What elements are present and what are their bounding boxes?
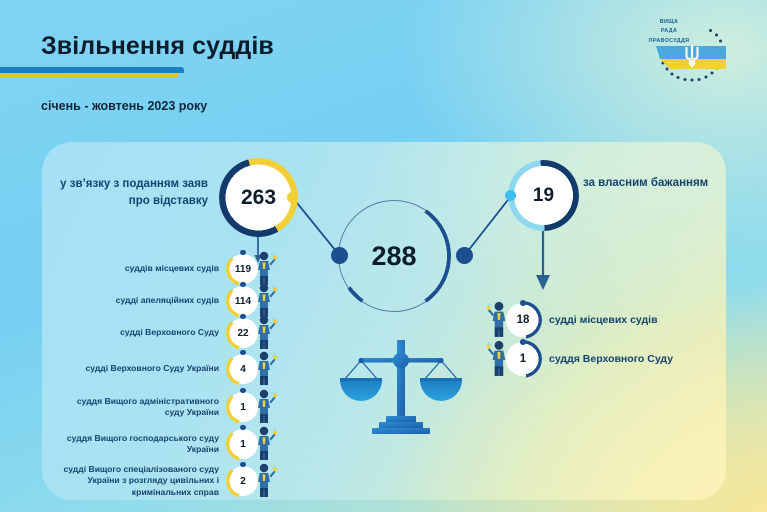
bubble-top-dot	[240, 462, 245, 467]
bubble-top-dot	[520, 339, 526, 345]
row-count-bubble: 1	[228, 429, 258, 459]
connector-dot-19	[505, 190, 516, 201]
row-count: 1	[240, 402, 246, 413]
list-item: судді Верховного Суду 22	[60, 314, 277, 352]
label-own-wish: за власним бажанням	[583, 175, 723, 192]
bubble-top-dot	[240, 314, 245, 319]
row-label: суддя Верховного Суду	[540, 353, 673, 365]
node-19-value: 19	[533, 185, 554, 207]
row-label: суддя Вищого господарського суду України	[60, 433, 228, 455]
row-count: 18	[517, 314, 530, 326]
row-label: судді Верховного Суду	[60, 327, 228, 338]
row-count: 119	[235, 264, 251, 275]
label-resignation: у зв’язку з поданням заяв про відставку	[60, 176, 208, 209]
row-count-bubble: 2	[228, 466, 258, 496]
row-count-bubble: 18	[506, 303, 540, 337]
row-label: суддів місцевих судів	[60, 263, 228, 274]
row-count: 2	[240, 476, 246, 487]
connector-dot-263	[287, 192, 298, 203]
row-label: судді апеляційних судів	[60, 295, 228, 306]
row-count-bubble: 1	[506, 342, 540, 376]
row-label: судді місцевих судів	[540, 314, 658, 326]
row-label: судді Верховного Суду України	[60, 363, 228, 374]
row-count-bubble: 1	[228, 392, 258, 422]
row-count-bubble: 22	[228, 318, 258, 348]
row-count: 22	[237, 328, 248, 339]
bubble-top-dot	[240, 350, 245, 355]
hub-total-value: 288	[338, 200, 450, 312]
row-label: суддя Вищого адміністративного суду Укра…	[60, 396, 228, 418]
row-count: 1	[240, 439, 246, 450]
hub-dot-left	[331, 247, 348, 264]
scales-of-justice-icon	[334, 326, 468, 436]
hub-dot-right	[456, 247, 473, 264]
list-item: судді Верховного Суду України 4	[60, 350, 277, 388]
bubble-top-dot	[240, 425, 245, 430]
infographic-canvas: Звільнення суддів січень - жовтень 2023 …	[0, 0, 767, 512]
list-item: суддя Вищого адміністративного суду Укра…	[60, 388, 277, 426]
list-item: суддя Вищого господарського суду України…	[60, 425, 277, 463]
row-label: судді Вищого спеціалізованого суду Украї…	[60, 464, 228, 498]
row-count-bubble: 114	[228, 286, 258, 316]
bubble-top-dot	[240, 388, 245, 393]
node-263-value: 263	[241, 186, 276, 210]
list-item: 1 суддя Верховного Суду	[487, 339, 673, 379]
row-count: 114	[235, 296, 251, 307]
node-resignation-total: 263	[222, 161, 295, 234]
row-count: 4	[240, 364, 246, 375]
row-count: 1	[520, 353, 526, 365]
row-count-bubble: 4	[228, 354, 258, 384]
node-own-wish-total: 19	[511, 163, 576, 228]
row-count-bubble: 119	[228, 254, 258, 284]
node-total: 288	[338, 200, 450, 312]
bubble-top-dot	[240, 250, 245, 255]
list-item: судді Вищого спеціалізованого суду Украї…	[60, 462, 277, 500]
list-item: 18 судді місцевих судів	[487, 300, 658, 340]
bubble-top-dot	[240, 282, 245, 287]
bubble-top-dot	[520, 300, 526, 306]
